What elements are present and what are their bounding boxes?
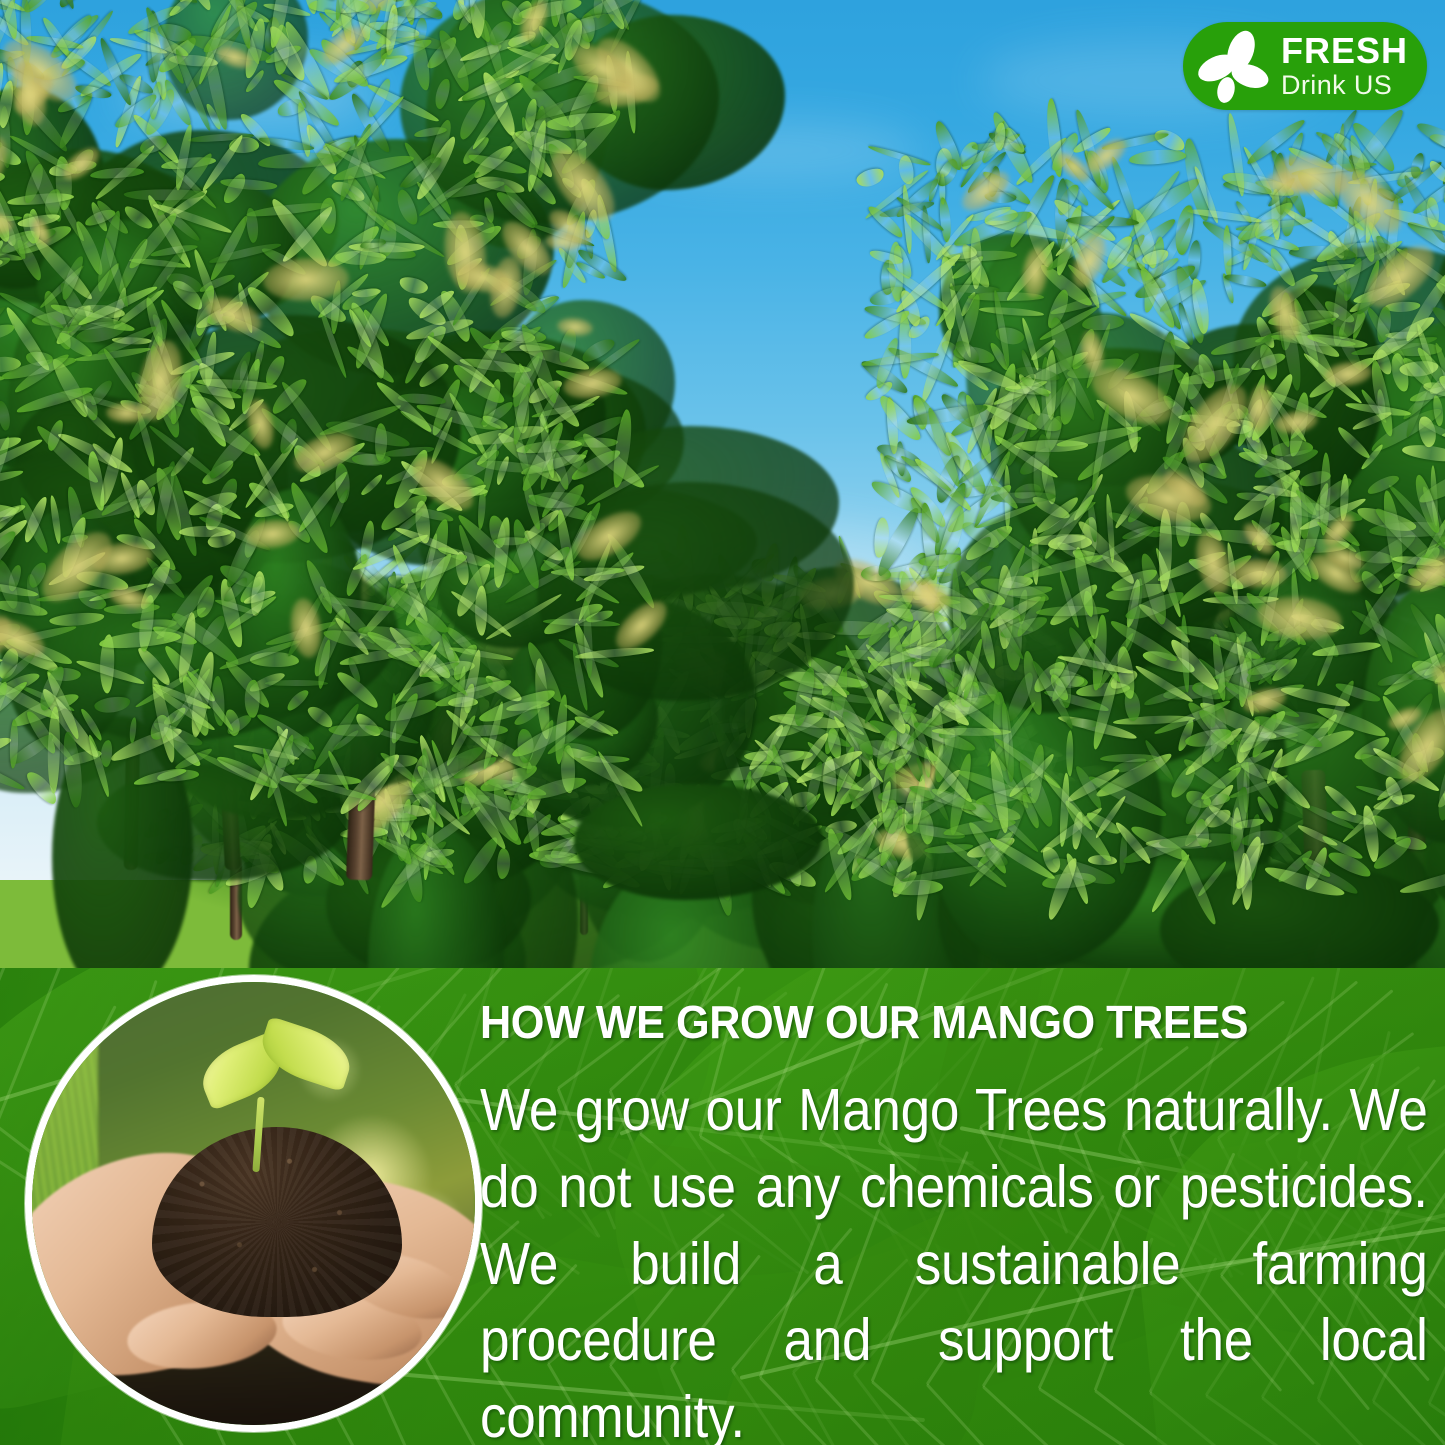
panel-text-column: HOW WE GROW OUR MANGO TREES We grow our … (480, 998, 1428, 1445)
panel-body-text: We grow our Mango Trees naturally. We do… (480, 1072, 1428, 1445)
mango-leaf (892, 878, 944, 896)
mango-leaf (1128, 148, 1186, 166)
foreground-tree-right (885, 130, 1445, 950)
mango-leaf (329, 724, 384, 737)
mango-leaf (475, 586, 487, 636)
brand-logo-badge[interactable]: FRESH Drink US (1183, 22, 1427, 110)
promo-image-canvas: FRESH Drink US HOW WE GROW OUR MANGO TRE… (0, 0, 1445, 1445)
foreground-tree-left (0, 0, 620, 860)
four-leaf-cluster-icon (1193, 28, 1279, 104)
logo-secondary-text: Drink US (1281, 72, 1408, 99)
mango-leaf (22, 0, 84, 14)
mango-leaf (1187, 207, 1262, 224)
logo-wordmark: FRESH Drink US (1281, 33, 1408, 99)
mango-leaf (528, 492, 585, 508)
logo-primary-text: FRESH (1281, 33, 1408, 69)
circular-seedling-photo (25, 975, 482, 1432)
mango-leaf (860, 565, 890, 581)
mango-leaf (320, 198, 336, 234)
page-title: HOW WE GROW OUR MANGO TREES (480, 998, 1371, 1046)
